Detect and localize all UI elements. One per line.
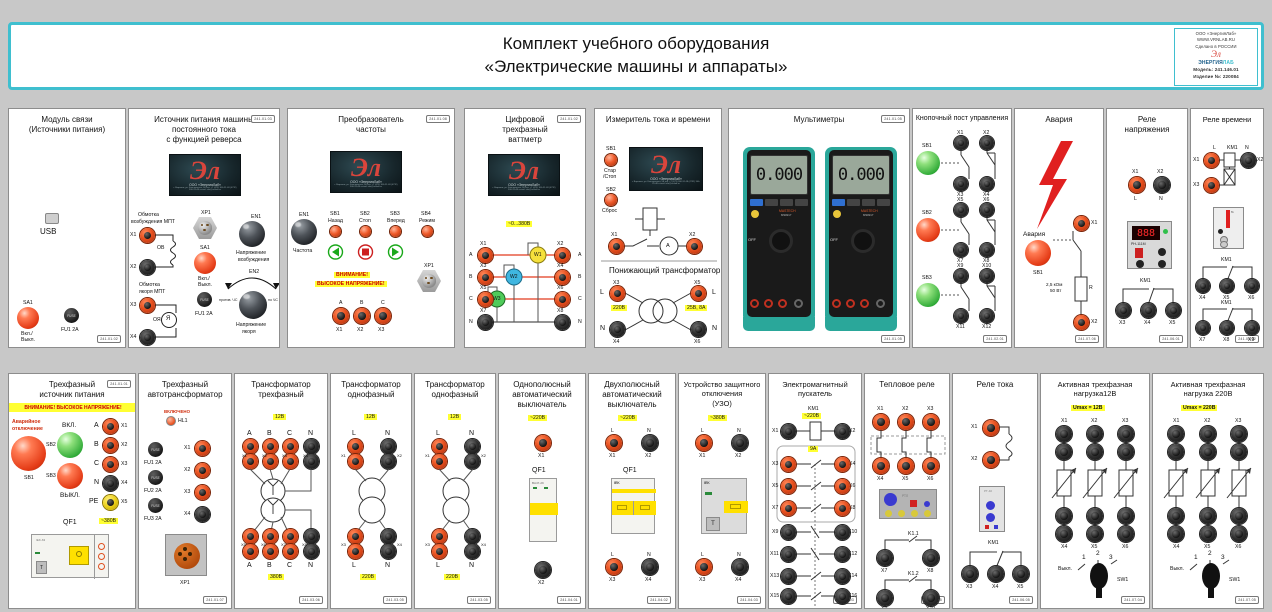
terminal-x4[interactable] [980, 177, 994, 191]
bottom-label-l: L [436, 562, 440, 569]
terminal-x8[interactable] [1220, 321, 1234, 335]
terminal-label-x8: X8 [302, 542, 307, 547]
terminal-label-x3: X3 [609, 577, 615, 583]
title-line-1: Комплект учебного оборудования [485, 33, 788, 56]
circuit-breaker-qf1[interactable]: IEK-63 T [31, 534, 109, 578]
terminal-label-x4: X4 [397, 542, 402, 547]
voltage-bottom: 220В [444, 574, 460, 580]
terminal-x4[interactable] [1141, 303, 1156, 318]
panel-multimeters[interactable]: Мультиметры 241.01.05 241.01.05 0.000 OF… [728, 108, 910, 348]
brand-logo-name: ЭНЕРГИЯЛАБ [1175, 60, 1257, 68]
phase-right-c: C [578, 296, 582, 302]
terminal-label-x1: X1 [480, 241, 486, 247]
sub-left-n: N [600, 325, 605, 332]
terminal-x8[interactable] [555, 315, 570, 330]
terminal-x2[interactable] [555, 248, 570, 263]
terminal-x2[interactable] [1074, 315, 1089, 330]
terminal-x4[interactable] [465, 529, 480, 544]
terminal-x7[interactable] [478, 315, 493, 330]
panel-title-line: (Источники питания) [9, 125, 125, 135]
panel-button-post[interactable]: Кнопочный пост управления 241.02.01 SB1 … [912, 108, 1012, 348]
panel-transformer-3phase[interactable]: Трансформатор трехфазный 241.03.06 12В A… [234, 373, 328, 609]
terminal-x2[interactable] [732, 435, 748, 451]
terminal-x10[interactable] [835, 525, 850, 540]
terminal-label-x6: X6 [694, 339, 700, 345]
brand-serial: Изделие №: 220084 [1175, 74, 1257, 81]
panel-load-220v[interactable]: Активная трехфазная нагрузка 220В 241.07… [1152, 373, 1264, 609]
bottom-label-l: L [611, 552, 614, 558]
terminal-x1[interactable] [478, 248, 493, 263]
en2-caption: Напряжение [236, 322, 266, 328]
rcd-test-button[interactable]: T [706, 517, 720, 531]
panel-title-line: автоматический [589, 390, 675, 400]
terminal-label-x1: X1 [538, 453, 544, 459]
terminal-x2[interactable] [980, 136, 994, 150]
terminal-x9[interactable] [1245, 321, 1259, 335]
terminal-label-x3: X3 [341, 542, 346, 547]
breaker-mark: IEK [614, 481, 620, 485]
terminal-label-x13: X13 [770, 573, 779, 579]
bottom-label-n: N [737, 552, 741, 558]
qf1-label: QF1 [63, 519, 77, 526]
sb2-name: SB2 [46, 442, 56, 448]
terminal-label-x5: X5 [1169, 320, 1175, 326]
button-sb1-emergency-stop[interactable] [11, 436, 46, 471]
terminal-x1[interactable] [535, 435, 551, 451]
sb4-caption: Режим [419, 218, 435, 224]
terminal-x5[interactable] [954, 203, 968, 217]
multimeter-display: 0.000 [756, 165, 802, 185]
terminal-label-x12: X12 [982, 324, 991, 330]
terminal-label-x3: X3 [772, 461, 778, 467]
sub-right-l: L [712, 289, 716, 296]
en2-caption: якоря [242, 329, 256, 335]
terminal-x7[interactable] [954, 243, 968, 257]
group2-label: K1.2 [908, 571, 919, 577]
multimeter-left[interactable]: 0.000 OFF MASTECH MS8217 [743, 147, 815, 337]
terminal-x3b[interactable] [432, 544, 447, 559]
terminal-x7[interactable] [1196, 321, 1210, 335]
terminal-x14[interactable] [835, 569, 850, 584]
terminal-x3[interactable] [348, 529, 363, 544]
terminal-x12[interactable] [835, 547, 850, 562]
terminal-x3[interactable] [195, 485, 210, 500]
terminal-x9[interactable] [781, 525, 796, 540]
panel-title-line: отключения [679, 389, 765, 398]
terminal-x3[interactable] [103, 457, 118, 472]
terminal-x12[interactable] [980, 309, 994, 323]
en2-name: EN2 [249, 269, 259, 275]
terminal-label-x1: X1 [957, 130, 963, 136]
sb4-name: SB4 [421, 211, 431, 217]
phase-label-b: B [360, 300, 363, 306]
terminal-label-x4: X4 [1144, 320, 1150, 326]
fu1-label: FU1 2A [61, 327, 79, 333]
voltage-bottom: 380В [268, 574, 284, 580]
terminal-x11[interactable] [954, 309, 968, 323]
rotary-switch[interactable] [1153, 374, 1264, 609]
terminal-label-x4: X4 [184, 511, 190, 517]
top-label-n: N [737, 428, 741, 434]
terminal-x4[interactable] [381, 529, 396, 544]
terminal-label-x11: X11 [956, 324, 965, 330]
panel-current-time-meter[interactable]: Измеритель тока и времени SB1 Стар /Стоп… [594, 108, 722, 348]
terminal-x4[interactable] [732, 559, 748, 575]
terminal-x16[interactable] [835, 589, 850, 604]
terminal-x8[interactable] [923, 550, 939, 566]
fuse-fu3[interactable]: FUSE [148, 498, 163, 513]
terminal-label-x15: X15 [770, 593, 779, 599]
terminal-label-x4: X4 [557, 263, 563, 269]
xp1-label: XP1 [180, 580, 190, 586]
phase-label-c: C [94, 460, 99, 467]
panel-tag: 241.01.07 [203, 596, 227, 604]
terminal-label-x7: X7 [772, 505, 778, 511]
terminal-label-x5: X5 [1017, 584, 1023, 590]
panel-load-12v[interactable]: Активная трехфазная нагрузка12В 241.07.0… [1040, 373, 1150, 609]
panel-tag: 241.01.02 [97, 335, 121, 343]
panel-frequency-converter[interactable]: Преобразователь частоты 241.01.08 Эл ООО… [287, 108, 455, 348]
terminal-x9[interactable] [954, 269, 968, 283]
panel-tag: 241.04.03 [737, 596, 761, 604]
terminal-x3[interactable] [606, 559, 622, 575]
panel-transformer-1phase-a[interactable]: Трансформатор однофазный 241.03.05 12В L… [330, 373, 412, 609]
terminal-x4[interactable] [642, 559, 658, 575]
bottom-label-l: L [352, 562, 356, 569]
terminal-x3[interactable] [781, 457, 796, 472]
terminal-x6[interactable] [835, 479, 850, 494]
terminal-x4[interactable] [610, 322, 625, 337]
panel-rcd[interactable]: Устройство защитного отключения (УЗО) 24… [678, 373, 766, 609]
sub-left-l: L [600, 289, 604, 296]
panel-dc-machine-supply[interactable]: Источник питания машины постоянного тока… [128, 108, 280, 348]
panel-title-line: автотрансформатор [139, 390, 231, 400]
bottom-label-l: L [701, 552, 704, 558]
panel-three-phase-supply[interactable]: Трехфазный источник питания 241.01.01 ВН… [8, 373, 136, 609]
sa1-switch[interactable] [17, 307, 39, 329]
phase-left-n: N [469, 319, 473, 325]
meter-w1: W1 [534, 252, 542, 258]
terminal-x5[interactable] [781, 479, 796, 494]
terminal-label-x3: X3 [966, 584, 972, 590]
terminal-x10[interactable] [980, 269, 994, 283]
panel-time-relay[interactable]: Реле времени 241.06.02 L N KM1 X1 X2 X3 … [1190, 108, 1264, 348]
fuse-fu1[interactable]: FUSE [64, 308, 79, 323]
terminal-x3[interactable] [432, 529, 447, 544]
bottom-label-c: C [287, 562, 292, 569]
terminal-label-x1: X1 [1091, 220, 1097, 226]
hl1-name: HL1 [178, 418, 188, 424]
bottom-label-n: N [647, 552, 651, 558]
terminal-x4[interactable] [103, 476, 118, 491]
terminal-x4b[interactable] [381, 544, 396, 559]
terminal-x3[interactable] [610, 286, 625, 301]
xp1-label: XP1 [424, 263, 434, 269]
terminal-x7[interactable] [877, 550, 893, 566]
terminal-x9[interactable] [877, 590, 893, 606]
terminal-label-x4: X4 [992, 584, 998, 590]
bottom-label-n: N [469, 562, 474, 569]
terminal-label-x4: X4 [735, 577, 741, 583]
terminal-x8[interactable] [835, 501, 850, 516]
bottom-label-a: A [247, 562, 252, 569]
terminal-x5[interactable] [1013, 566, 1029, 582]
terminal-label-x1: X1 [772, 428, 778, 434]
terminal-label-x5: X5 [772, 483, 778, 489]
phase-label-a: A [339, 300, 342, 306]
top-label-l: L [611, 428, 614, 434]
terminal-label-x9: X9 [881, 606, 887, 609]
terminal-x8[interactable] [980, 243, 994, 257]
panel-current-relay[interactable]: Реле тока 241.06.05 X1 X2 РТ-40 KM1 X3 X… [952, 373, 1038, 609]
terminal-x3[interactable] [696, 559, 712, 575]
terminal-x2[interactable] [535, 562, 551, 578]
fu1-label: FU1 2A [144, 460, 162, 466]
panel-breaker-2pole[interactable]: Двухполюсный автоматический выключатель … [588, 373, 676, 609]
terminal-label-x8: X8 [927, 568, 933, 574]
terminal-x2[interactable] [354, 308, 370, 324]
circuit-breaker-qf1[interactable]: IEK [611, 478, 655, 534]
panel-title-line: Двухполюсный [589, 380, 675, 390]
terminal-x3[interactable] [954, 177, 968, 191]
page-title: Комплект учебного оборудования «Электрич… [485, 33, 788, 79]
power-rating: 9A [808, 446, 818, 452]
terminal-x1[interactable] [1074, 216, 1089, 231]
terminal-x4[interactable] [195, 507, 210, 522]
meter-w2: W2 [510, 274, 518, 280]
xp1-connector[interactable] [165, 534, 207, 576]
terminal-label-x2: X2 [357, 327, 363, 333]
terminal-label-x9: X9 [772, 529, 778, 535]
top-label-n: N [647, 428, 651, 434]
terminal-label-x1: X1 [121, 423, 127, 429]
panel-title-line: выключатель [589, 400, 675, 410]
panel-emergency[interactable]: Авария 241.07.06 Авария SB1 X1 X2 2,5 кО… [1014, 108, 1104, 348]
terminal-x1[interactable] [954, 136, 968, 150]
panel-title-line: Устройство защитного [679, 380, 765, 389]
terminal-label-x5: X5 [957, 197, 963, 203]
switch-name: SW1 [1229, 577, 1240, 583]
panel-voltage-relay[interactable]: Реле напряжения 241.06.01 X1 X2 L N 888 … [1106, 108, 1188, 348]
terminal-label-x2: X2 [538, 580, 544, 586]
terminal-x5[interactable] [1166, 303, 1181, 318]
terminal-label-x1: X1 [699, 453, 705, 459]
usb-label: USB [40, 227, 56, 236]
terminal-x3[interactable] [478, 270, 493, 285]
terminal-label-x2: X2 [983, 130, 989, 136]
fu2-label: FU2 2A [144, 488, 162, 494]
terminal-x6[interactable] [555, 292, 570, 307]
terminal-label-x2: X2 [735, 453, 741, 459]
terminal-label-x2: X2 [184, 467, 190, 473]
hl1-caption: ВКЛЮЧЕНО [164, 409, 190, 414]
breaker-mark: BA47-29 [532, 481, 544, 485]
sb3-caption: ВЫКЛ. [60, 492, 80, 499]
terminal-label-x10: X10 [982, 263, 991, 269]
multimeter-model: MS8217 [781, 213, 791, 217]
phase-label-pe: PE [89, 498, 98, 505]
terminal-x4[interactable] [555, 270, 570, 285]
resistor-designator: R [1089, 285, 1093, 291]
terminal-x15[interactable] [781, 589, 796, 604]
phase-right-b: B [578, 274, 581, 280]
terminal-label-x4: X4 [481, 542, 486, 547]
terminal-x13[interactable] [781, 569, 796, 584]
terminal-x3[interactable] [375, 308, 391, 324]
knob-en2-armature[interactable] [239, 291, 267, 319]
terminal-x6[interactable] [691, 322, 706, 337]
voltage-badge: ~220В [528, 415, 547, 421]
warning-banner: ВНИМАНИЕ! ВЫСОКОЕ НАПРЯЖЕНИЕ! [24, 405, 121, 411]
rcd-device[interactable]: IEK T [701, 478, 747, 534]
terminal-x2[interactable] [195, 463, 210, 478]
terminal-x1[interactable] [781, 424, 796, 439]
terminal-label-x7: X7 [281, 542, 286, 547]
button-sb4-mode[interactable] [422, 226, 433, 237]
terminal-label-x6: X6 [983, 197, 989, 203]
terminal-label-x4: X4 [613, 339, 619, 345]
button-sb3-off[interactable] [57, 463, 83, 489]
terminal-label-x6: X6 [261, 542, 266, 547]
terminal-x3[interactable] [1116, 303, 1131, 318]
terminal-label-x10: X10 [926, 606, 935, 609]
terminal-label-x3: X3 [425, 542, 430, 547]
multimeter-display: 0.000 [838, 165, 884, 185]
brand-logo-icon: Эл [1175, 50, 1257, 60]
phase-right-n: N [578, 319, 582, 325]
panel-title-line: автоматический [499, 390, 585, 400]
multimeter-right[interactable]: 0.000 OFF MASTECH MS8217 [825, 147, 897, 337]
phase-label-a: A [94, 422, 99, 429]
terminal-x6[interactable] [980, 203, 994, 217]
panel-title-line: Однополюсный [499, 380, 585, 390]
terminal-x1[interactable] [103, 419, 118, 434]
phase-left-b: B [469, 274, 472, 280]
terminal-label-x7: X7 [480, 308, 486, 314]
terminal-x5[interactable] [478, 292, 493, 307]
brand-plate: ООО «ЭнергияЛаб» WWW.VRNLAB.RU Сделано в… [1174, 28, 1258, 86]
en2-ccw-label: против. ЧС [219, 298, 237, 302]
terminal-label-x3: X3 [184, 489, 190, 495]
terminal-label-x5: X5 [694, 280, 700, 286]
brand-model: Модель: 241.146.01 [1175, 67, 1257, 74]
sb1-name: SB1 [24, 475, 34, 481]
sb2-caption: ВКЛ. [62, 422, 76, 429]
panel-autotransformer[interactable]: Трехфазный автотрансформатор 241.01.07 В… [138, 373, 232, 609]
terminal-x10[interactable] [923, 590, 939, 606]
terminal-label-x2: X2 [1091, 319, 1097, 325]
panel-title-line: (УЗО) [679, 399, 765, 408]
terminal-label-x3: X3 [1119, 320, 1125, 326]
terminal-label-x1: X1 [609, 453, 615, 459]
terminal-label-x3: X3 [121, 461, 127, 467]
terminal-x11[interactable] [781, 547, 796, 562]
fuse-fu1[interactable]: FUSE [148, 442, 163, 457]
terminal-x1[interactable] [333, 308, 349, 324]
terminal-label-x6: X6 [557, 285, 563, 291]
emergency-label: отключение [12, 426, 43, 432]
panel-transformer-1phase-b[interactable]: Трансформатор однофазный 241.03.05 12В L… [414, 373, 496, 609]
qf1-label: QF1 [623, 467, 637, 474]
phase-right-a: A [578, 252, 581, 258]
terminal-label-x3: X3 [378, 327, 384, 333]
title-line-2: «Электрические машины и аппараты» [485, 56, 788, 79]
indicator-hl1 [166, 416, 176, 426]
panel-title-line: выключатель [499, 400, 585, 410]
terminal-label-x1: X1 [184, 445, 190, 451]
breaker-mark: IEK-63 [36, 538, 45, 542]
phase-left-c: C [469, 296, 473, 302]
terminal-x1[interactable] [696, 435, 712, 451]
multimeter-off-label: OFF [830, 237, 838, 242]
terminal-x3[interactable] [962, 566, 978, 582]
terminal-label-x7: X7 [1199, 337, 1205, 343]
terminal-label-x3: X3 [480, 263, 486, 269]
terminal-x1[interactable] [606, 435, 622, 451]
terminal-label-x8: X8 [1223, 337, 1229, 343]
sub-voltage-primary: 220В [611, 305, 627, 311]
terminal-x4[interactable] [835, 457, 850, 472]
resistor-rating-1: 2,5 кОм [1046, 282, 1062, 287]
phase-label-n: N [94, 479, 99, 486]
emergency-label: Аварийное [12, 419, 41, 425]
terminal-label-x9: X9 [1248, 337, 1254, 343]
terminal-x2[interactable] [835, 424, 850, 439]
terminal-x1[interactable] [195, 441, 210, 456]
panel-breaker-1pole[interactable]: Однополюсный автоматический выключатель … [498, 373, 586, 609]
voltage-badge: ~380В [708, 415, 727, 421]
top-label-l: L [701, 428, 704, 434]
terminal-label-x9: X9 [957, 263, 963, 269]
xp1-connector[interactable] [417, 270, 441, 292]
terminal-label-x4: X4 [645, 577, 651, 583]
terminal-label-x2: X2 [645, 453, 651, 459]
terminal-x5[interactable] [103, 495, 118, 510]
breaker-mark: IEK [704, 481, 710, 485]
button-sb2-on[interactable] [57, 432, 83, 458]
time-relay-contacts-2 [1191, 109, 1264, 348]
panel-contactor[interactable]: Электромагнитный пускатель 241.05.03 KM1… [768, 373, 862, 609]
sb3-name: SB3 [46, 473, 56, 479]
terminal-x5[interactable] [691, 286, 706, 301]
panel-thermal-relay[interactable]: Тепловое реле 241.05.05 X1 X2 X3 X4 X5 X… [864, 373, 950, 609]
phase-label-b: B [94, 441, 99, 448]
terminal-x7[interactable] [781, 501, 796, 516]
circuit-breaker-qf1[interactable]: BA47-29 [529, 478, 557, 542]
terminal-x2[interactable] [103, 438, 118, 453]
fuse-fu2[interactable]: FUSE [148, 470, 163, 485]
voltage-badge: ~220В [618, 415, 637, 421]
panel-tag: 241.01.05 [881, 115, 905, 123]
sa1-name: SA1 [23, 300, 33, 306]
resistor-rating-2: 50 Вт [1050, 288, 1061, 293]
bottom-label-b: B [267, 562, 272, 569]
step-down-transformer-symbol [595, 109, 722, 348]
terminal-x3b[interactable] [348, 544, 363, 559]
breaker-test-button[interactable]: T [36, 561, 47, 574]
warning-line-1: ВНИМАНИЕ! [334, 272, 370, 278]
terminal-x2[interactable] [642, 435, 658, 451]
rotary-switch[interactable] [1041, 374, 1150, 609]
terminal-x4[interactable] [988, 566, 1004, 582]
panel-digital-wattmeter[interactable]: Цифровой трехфазный ваттметр 241.01.02 Э… [464, 108, 586, 348]
phase-left-a: A [469, 252, 472, 258]
panel-title-line: Трехфазный [139, 380, 231, 390]
panel-communication-module[interactable]: Модуль связи (Источники питания) 241.01.… [8, 108, 126, 348]
panel-title-line: источник питания [9, 390, 135, 400]
terminal-x4b[interactable] [465, 544, 480, 559]
multimeter-off-label: OFF [748, 237, 756, 242]
